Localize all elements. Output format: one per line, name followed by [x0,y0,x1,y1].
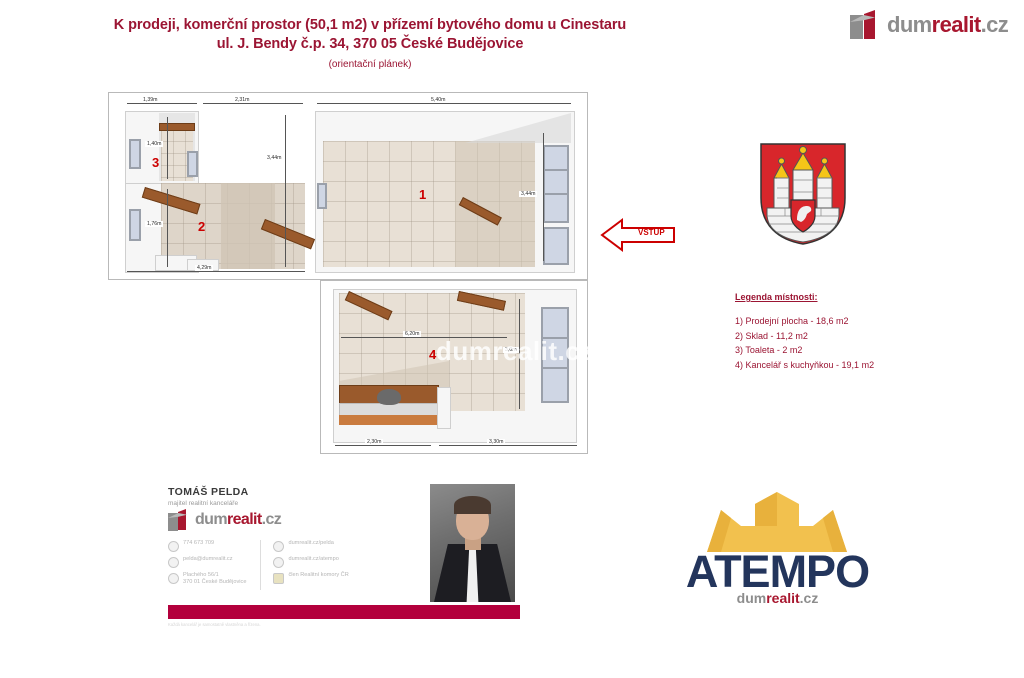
contact-web-profile-text: dumrealit.cz/pelda [288,540,333,547]
atempo-sub-realit: realit [766,590,799,606]
card-brand-part-realit: realit [227,511,262,528]
brand-wordmark: dumrealit.cz [887,12,1008,38]
agent-role: majitel realitní kanceláře [168,500,238,507]
title-subtitle: (orientační plánek) [60,59,680,70]
legend-item-4: 4) Kancelář s kuchyňkou - 19,1 m2 [735,358,965,373]
agent-contact-card: TOMÁŠ PELDA majitel realitní kanceláře d… [160,480,530,630]
legend-item-3: 3) Toaleta - 2 m2 [735,343,965,358]
dimension-sales-width: 5,40m [429,97,447,103]
contact-address: Plachého 56/1 370 01 České Budějovice [168,572,246,586]
contact-address-text: Plachého 56/1 370 01 České Budějovice [183,572,246,586]
email-icon [168,557,179,568]
dimension-storage-height: 3,44m [265,155,283,161]
location-icon [168,573,179,584]
kitchen-sink-icon [377,389,401,405]
room-toilet: 3 [125,111,197,183]
entrance-label: VSTUP [638,228,665,237]
entrance-marker: VSTUP [600,216,680,254]
certificate-icon [273,573,284,584]
floorplan-upper-section: 3 2 1 1, [108,92,588,280]
kitchen-front [339,415,437,425]
legend-list: 1) Prodejní plocha - 18,6 m2 2) Sklad - … [735,314,965,372]
agent-portrait [430,484,515,602]
page-title: K prodeji, komerční prostor (50,1 m2) v … [60,16,680,70]
floorplan-diagram: 3 2 1 1, [108,92,588,452]
contact-web-profile[interactable]: dumrealit.cz/pelda [273,540,348,552]
contact-phone-text: 774 673 709 [183,540,214,547]
dimension-left-wing-height: 1,76m [145,221,163,227]
room-number-1: 1 [419,187,426,202]
card-fineprint: Každá kancelář je samostatně vlastněna a… [168,622,261,627]
web-icon [273,541,284,552]
brand-part-cz: .cz [981,12,1009,37]
room-number-2: 2 [198,219,205,234]
legend-item-2: 2) Sklad - 11,2 m2 [735,329,965,344]
dimension-office-bottom-left: 2,30m [365,439,383,445]
ceske-budejovice-coat-of-arms [757,142,849,246]
brand-part-realit: realit [932,12,981,37]
title-line-1: K prodeji, komerční prostor (50,1 m2) v … [60,16,680,35]
floorplan-lower-section: 4 6,20m 3,0m 2,30m 3,30m [320,280,588,454]
legend-title: Legenda místnosti: [735,292,965,302]
window-office [541,307,569,403]
dimension-office-height: 3,0m [503,347,519,353]
card-dumrealit-logo: dumrealit.cz [168,509,281,531]
building-icon [168,509,190,531]
contact-column-left: 774 673 709 pelda@dumrealit.cz Plachého … [168,540,246,590]
atempo-sub-cz: .cz [800,590,819,606]
dimension-office-bottom-right: 3,30m [487,439,505,445]
dimension-sales-height: 3,44m [519,191,537,197]
room-office-kitchen: 4 [333,289,575,441]
room-number-4: 4 [429,347,436,362]
dumrealit-logo: dumrealit.cz [850,10,1008,40]
brand-part-dum: dum [887,12,932,37]
card-accent-bar [168,605,520,619]
atempo-logo: ATEMPO dumrealit.cz [665,492,890,602]
contact-email-text: pelda@dumrealit.cz [183,556,233,563]
atempo-sub-dum: dum [737,590,767,606]
globe-icon [273,557,284,568]
card-brand-part-dum: dum [195,511,227,528]
card-brand-wordmark: dumrealit.cz [195,511,281,529]
room-number-3: 3 [152,155,159,170]
legend-panel: Legenda místnosti: 1) Prodejní plocha - … [735,292,965,372]
dimension-office-width: 6,20m [403,331,421,337]
contact-phone[interactable]: 774 673 709 [168,540,246,552]
title-line-2: ul. J. Bendy č.p. 34, 370 05 České Buděj… [60,35,680,54]
contact-email[interactable]: pelda@dumrealit.cz [168,556,246,568]
contact-web-office-text: dumrealit.cz/atempo [288,556,338,563]
agent-name: TOMÁŠ PELDA [168,486,249,498]
atempo-subtitle: dumrealit.cz [665,590,890,606]
contact-web-office[interactable]: dumrealit.cz/atempo [273,556,348,568]
legend-item-1: 1) Prodejní plocha - 18,6 m2 [735,314,965,329]
dimension-toilet-height: 1,40m [145,141,163,147]
card-brand-part-cz: .cz [262,511,282,528]
phone-icon [168,541,179,552]
window-sales-right [543,145,569,223]
atempo-wordmark: ATEMPO [665,548,890,596]
contact-column-right: dumrealit.cz/pelda dumrealit.cz/atempo č… [260,540,348,590]
building-icon [850,10,880,40]
dimension-storage-width: 2,31m [233,97,251,103]
dimension-toilet-width: 1,39m [141,97,159,103]
contact-membership-text: člen Realitní komory ČR [288,572,348,579]
crown-icon [707,492,847,554]
room-storage: 2 [125,183,305,271]
dimension-left-wing-width: 4,29m [195,265,213,271]
contact-membership: člen Realitní komory ČR [273,572,348,584]
contact-details: 774 673 709 pelda@dumrealit.cz Plachého … [168,540,428,590]
window-sales-corner [543,227,569,265]
